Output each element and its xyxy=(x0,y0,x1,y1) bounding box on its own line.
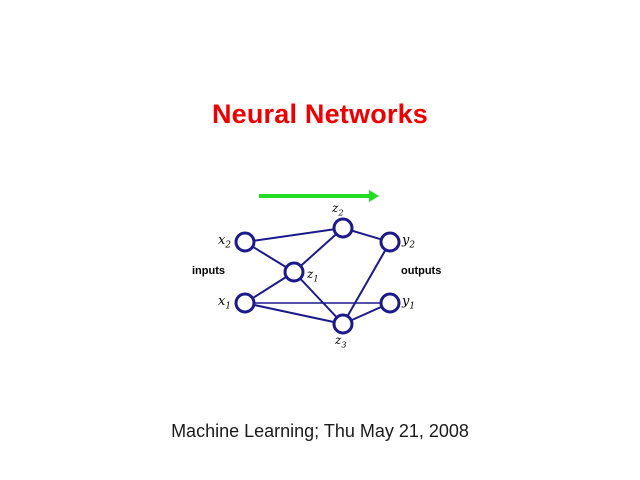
neural-network-diagram: x2 x1 z2 z1 z3 y2 y1 inputs outputs xyxy=(180,182,460,352)
node-label-y1: y1 xyxy=(402,295,415,311)
node-label-x2: x2 xyxy=(218,234,231,250)
node-label-z1: z1 xyxy=(307,268,319,283)
page-title: Neural Networks xyxy=(0,99,640,130)
node-y2 xyxy=(381,233,399,251)
inputs-label: inputs xyxy=(192,266,225,277)
node-z3 xyxy=(334,315,352,333)
slide-footer: Machine Learning; Thu May 21, 2008 xyxy=(0,421,640,442)
slide-canvas: Neural Networks xyxy=(0,0,640,480)
node-label-x1: x1 xyxy=(218,295,231,311)
node-label-z3: z3 xyxy=(335,334,347,349)
node-x2 xyxy=(236,233,254,251)
node-label-y2: y2 xyxy=(402,234,415,250)
node-label-z2: z2 xyxy=(332,202,344,217)
node-z1 xyxy=(285,263,303,281)
edge-z3-y2 xyxy=(343,242,390,324)
node-z2 xyxy=(334,219,352,237)
node-y1 xyxy=(381,294,399,312)
node-x1 xyxy=(236,294,254,312)
outputs-label: outputs xyxy=(401,266,441,277)
edge-x1-z3 xyxy=(245,303,343,324)
flow-direction-arrow xyxy=(259,190,379,202)
